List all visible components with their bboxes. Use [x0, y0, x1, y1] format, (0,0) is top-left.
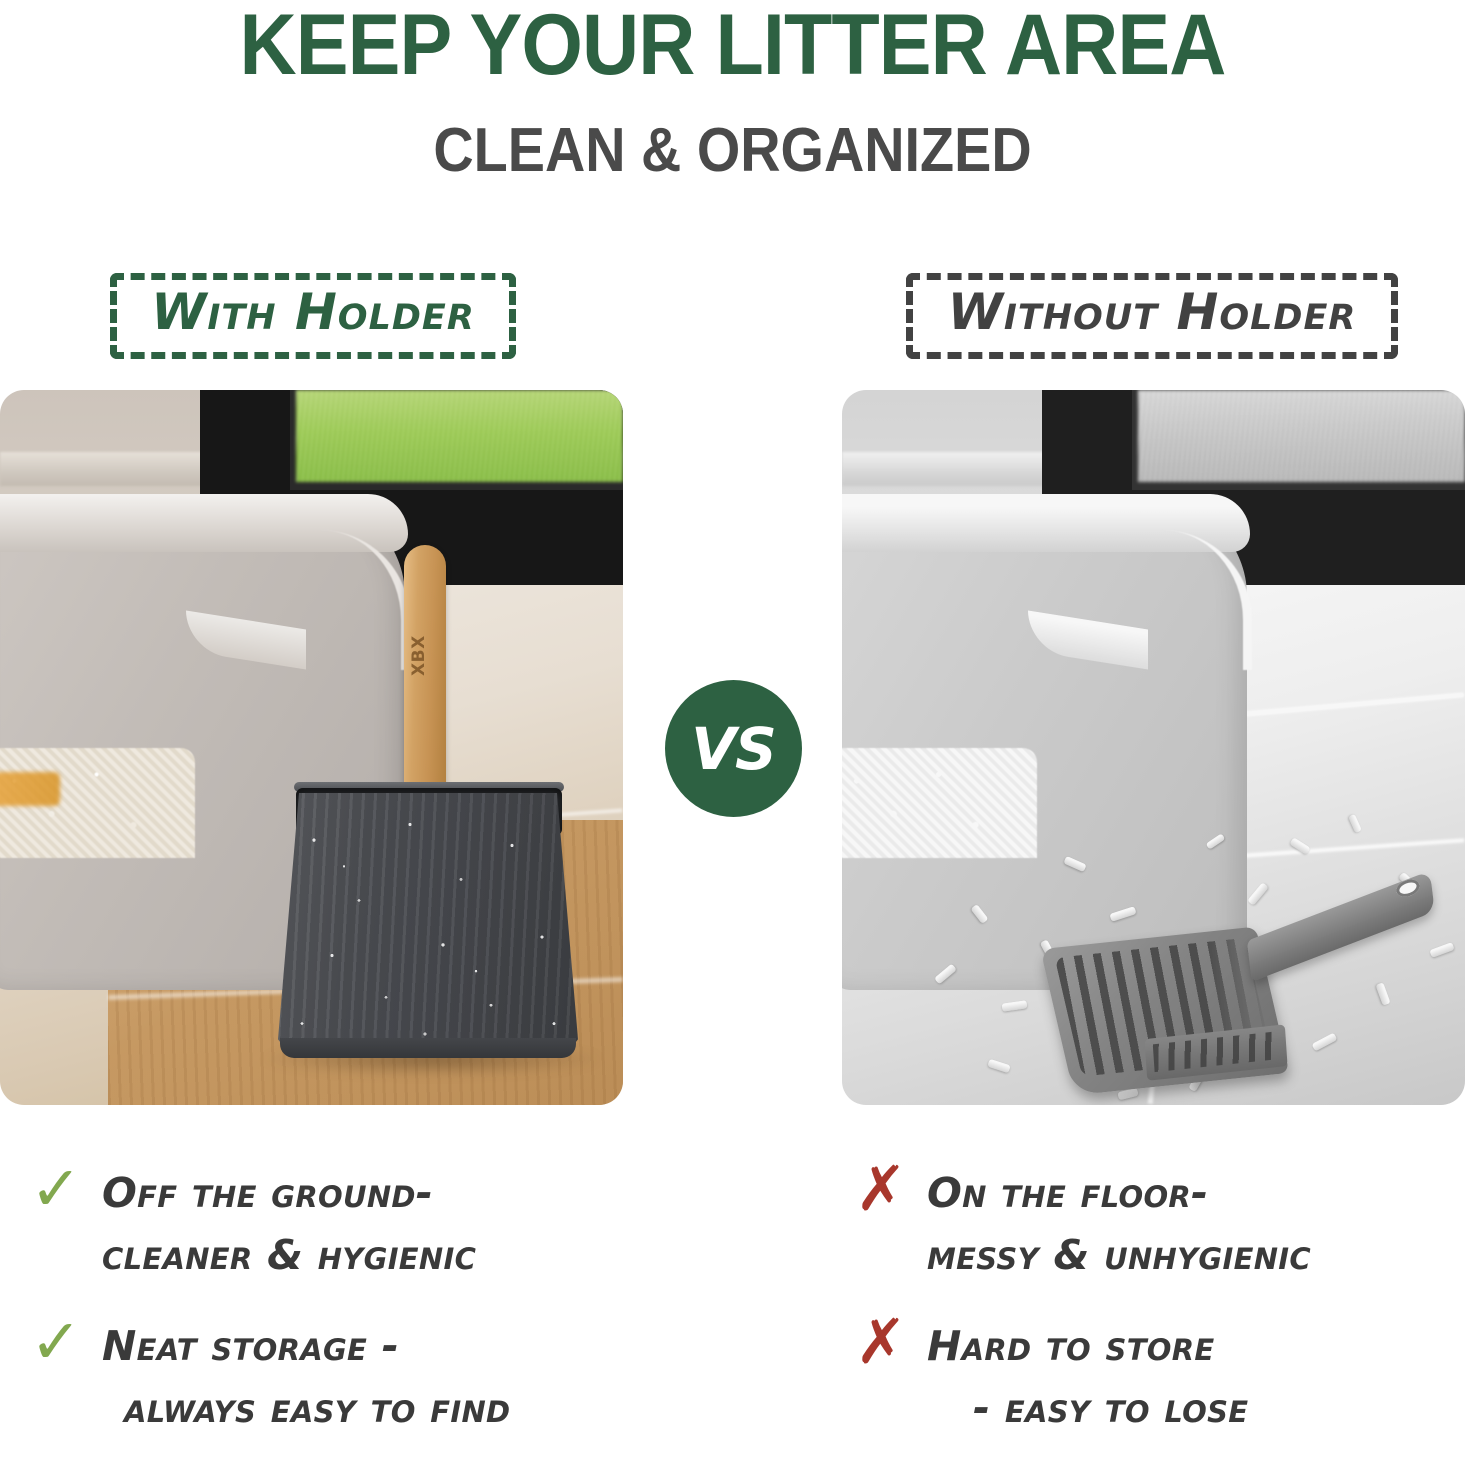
grass-outside [1138, 390, 1465, 482]
list-item-text: Neat storage - always easy to find [102, 1313, 510, 1440]
page-title: KEEP YOUR LITTER AREA [59, 2, 1407, 88]
drawbacks-list-without-holder: ✗ On the floor- messy & unhygienic ✗ Har… [855, 1160, 1465, 1465]
cross-icon: ✗ [855, 1160, 927, 1219]
badge-with-holder-label: With Holder [151, 283, 475, 341]
holder-base-foot [280, 1038, 576, 1058]
list-item-line-1: On the floor- [927, 1169, 1208, 1217]
check-icon: ✓ [30, 1160, 102, 1219]
vs-badge: VS [665, 680, 802, 817]
list-item-text: Hard to store - easy to lose [927, 1313, 1248, 1440]
baseboard [842, 452, 1057, 486]
grass-outside [296, 390, 623, 482]
list-item-line-2: messy & unhygienic [927, 1224, 1311, 1286]
list-item-line-1: Off the ground- [102, 1169, 433, 1217]
list-item: ✓ Off the ground- cleaner & hygienic [30, 1160, 670, 1287]
litter-granules [842, 748, 1037, 858]
list-item-line-1: Hard to store [927, 1322, 1215, 1370]
list-item: ✓ Neat storage - always easy to find [30, 1313, 670, 1440]
list-item-text: On the floor- messy & unhygienic [927, 1160, 1311, 1287]
holder-speckle-pattern [278, 793, 578, 1055]
scene-with-holder: XBX [0, 390, 623, 1105]
cross-icon: ✗ [855, 1313, 927, 1372]
list-item: ✗ Hard to store - easy to lose [855, 1313, 1465, 1440]
benefits-list-with-holder: ✓ Off the ground- cleaner & hygienic ✓ N… [30, 1160, 670, 1465]
check-icon: ✓ [30, 1313, 102, 1372]
list-item-line-2: always easy to find [102, 1377, 510, 1439]
scoop-brand-logo: XBX [409, 608, 439, 676]
page-subtitle: CLEAN & ORGANIZED [73, 120, 1392, 182]
badge-without-holder: Without Holder [906, 273, 1398, 359]
list-item-line-2: cleaner & hygienic [102, 1224, 476, 1286]
scoop-holder [278, 793, 578, 1055]
list-item-text: Off the ground- cleaner & hygienic [102, 1160, 476, 1287]
list-item-line-2: - easy to lose [927, 1377, 1248, 1439]
badge-with-holder: With Holder [110, 273, 516, 359]
photo-with-holder: XBX [0, 390, 623, 1105]
baseboard [0, 452, 215, 486]
scoop-wooden-handle [404, 545, 446, 810]
litter-stain [0, 772, 60, 806]
scene-without-holder [842, 390, 1465, 1105]
list-item-line-1: Neat storage - [102, 1322, 399, 1370]
photo-without-holder [842, 390, 1465, 1105]
badge-without-holder-label: Without Holder [948, 283, 1357, 341]
list-item: ✗ On the floor- messy & unhygienic [855, 1160, 1465, 1287]
